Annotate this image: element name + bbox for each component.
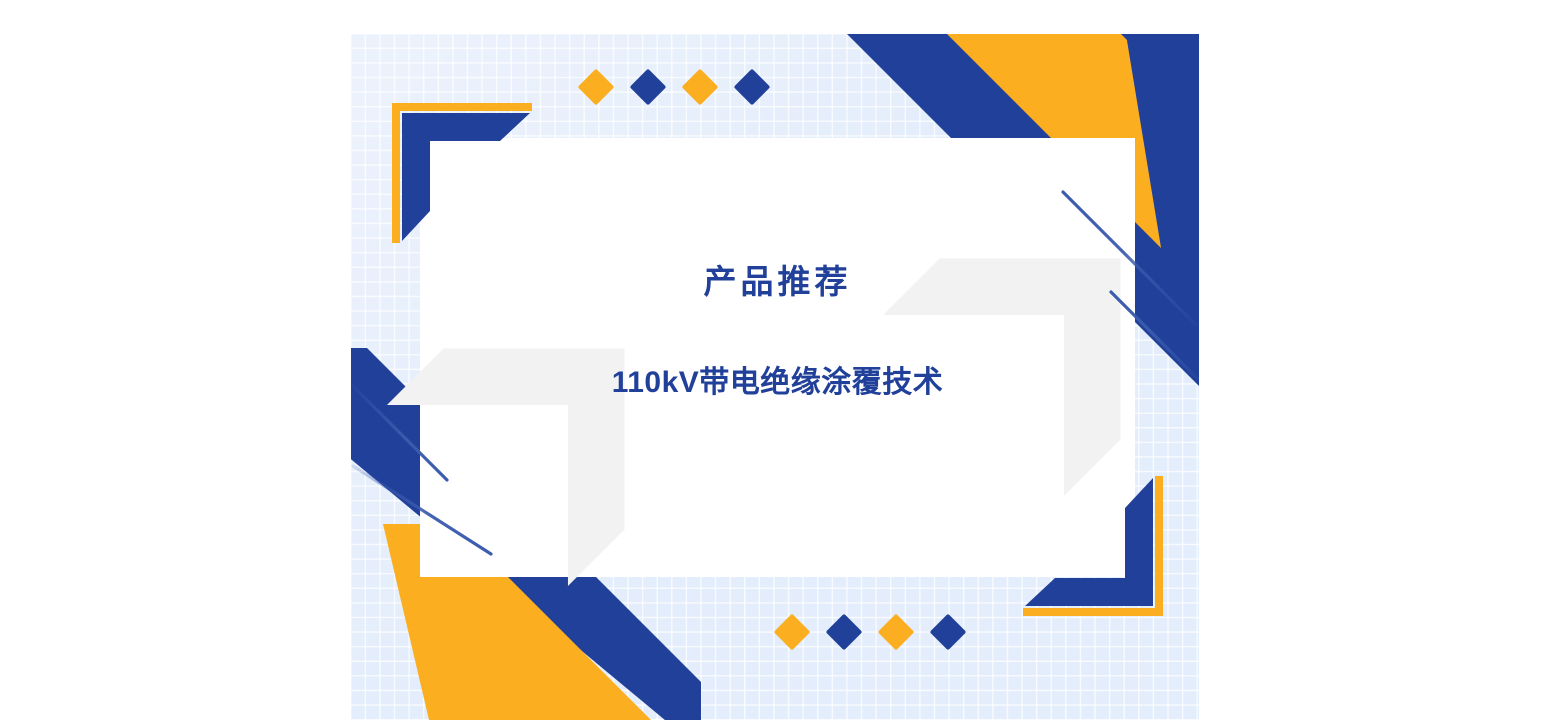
diamond-1 xyxy=(578,69,615,106)
presentation-slide: 产品推荐 110kV带电绝缘涂覆技术 xyxy=(351,34,1199,720)
top-left-bracket-blue xyxy=(402,113,530,241)
diamond-3 xyxy=(878,614,915,651)
diamond-4 xyxy=(734,69,771,106)
top-diamond-row xyxy=(583,74,765,100)
diamond-3 xyxy=(682,69,719,106)
page-root: 产品推荐 110kV带电绝缘涂覆技术 xyxy=(0,0,1552,720)
top-left-bracket xyxy=(392,103,542,253)
bottom-diamond-row xyxy=(779,619,961,645)
bottom-right-bracket-blue xyxy=(1025,478,1153,606)
bottom-right-bracket xyxy=(1013,466,1163,616)
diamond-1 xyxy=(774,614,811,651)
diamond-4 xyxy=(930,614,967,651)
diamond-2 xyxy=(826,614,863,651)
diamond-2 xyxy=(630,69,667,106)
